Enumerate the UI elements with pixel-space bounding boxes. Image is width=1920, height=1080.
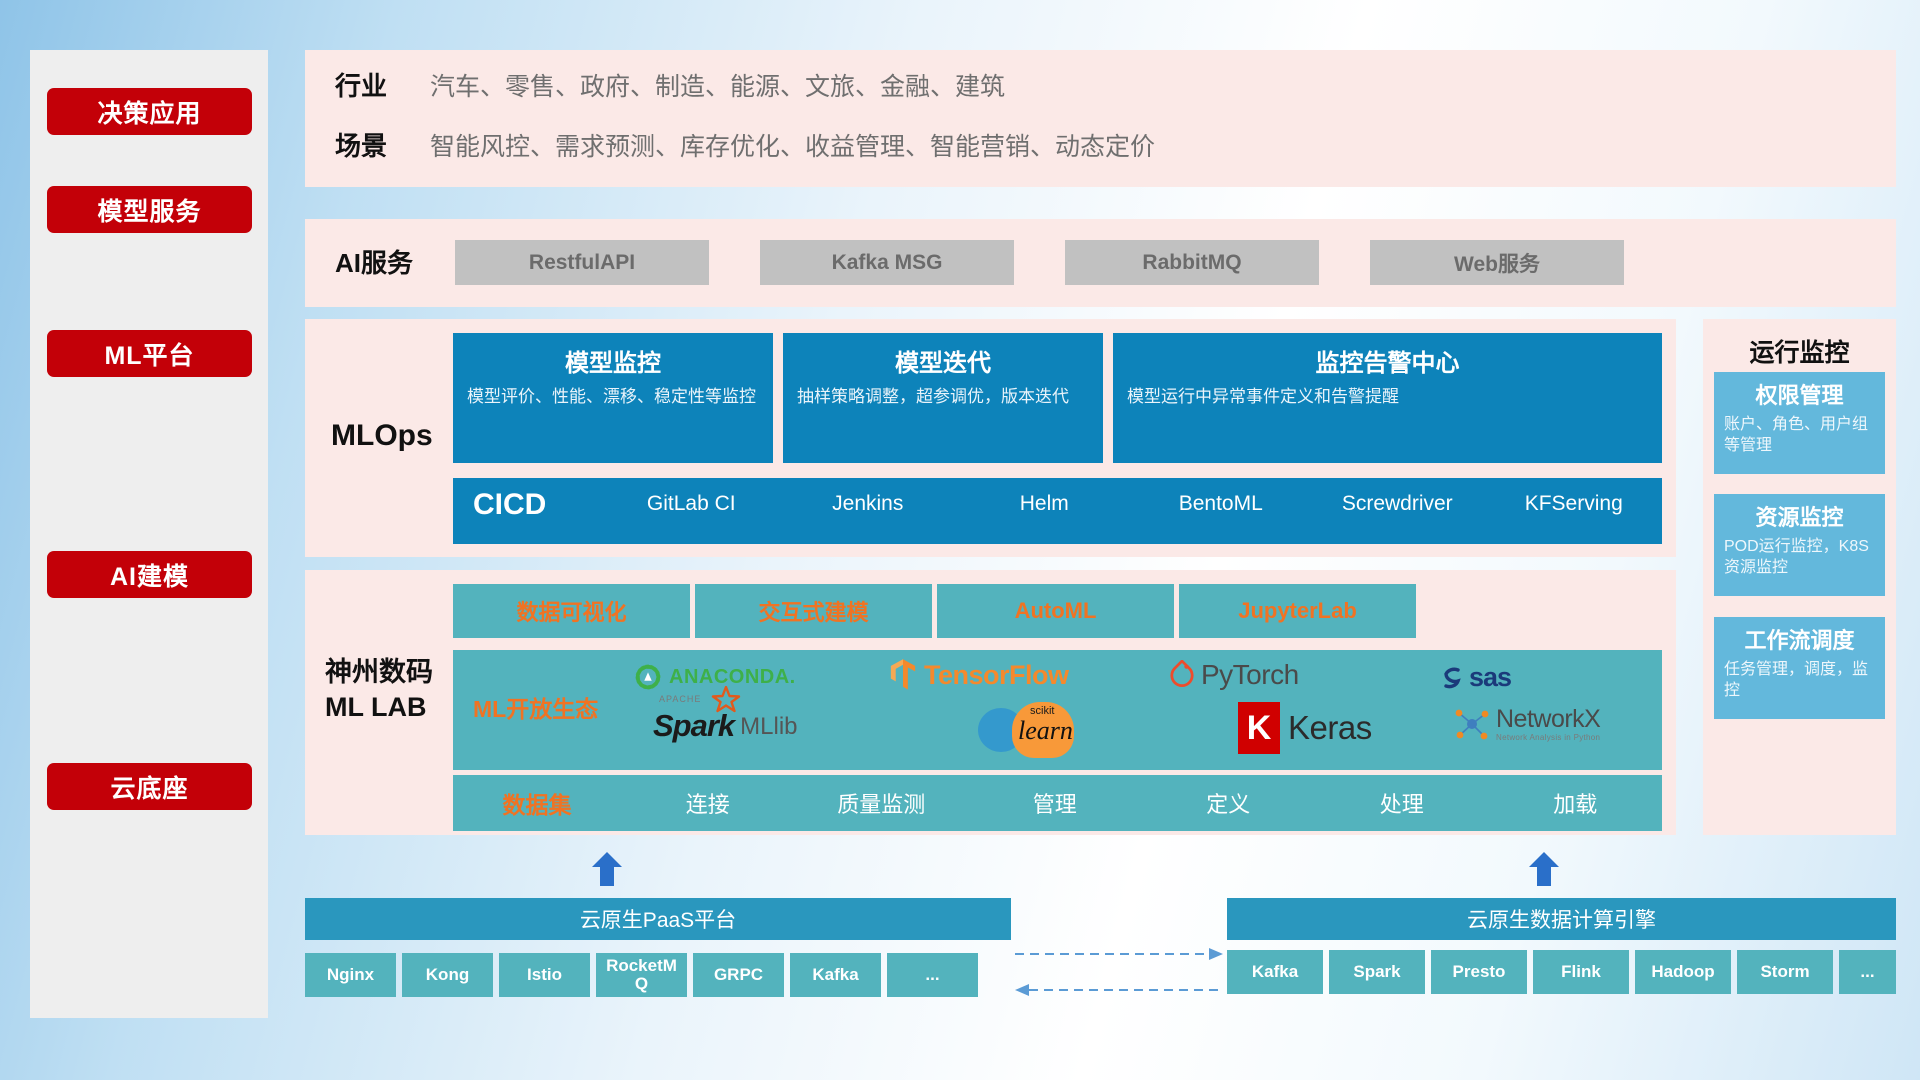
dataset-item-define[interactable]: 定义 — [1142, 787, 1316, 819]
ml-lab-label-line2: ML LAB — [325, 690, 433, 725]
industry-value: 汽车、零售、政府、制造、能源、文旅、金融、建筑 — [430, 67, 1005, 103]
dataset-title: 数据集 — [453, 786, 621, 820]
card-title: 监控告警中心 — [1127, 343, 1648, 378]
ml-lab-label-line1: 神州数码 — [325, 655, 433, 690]
card-title: 工作流调度 — [1724, 623, 1875, 655]
networkx-mark-icon — [1453, 705, 1491, 743]
ml-open-ecosystem-label: ML开放生态 — [473, 690, 598, 724]
card-desc: 抽样策略调整，超参调优，版本迭代 — [797, 386, 1089, 409]
mlops-card-alert-center[interactable]: 监控告警中心 模型运行中异常事件定义和告警提醒 — [1113, 333, 1662, 463]
paas-chip-more[interactable]: ... — [887, 953, 978, 997]
card-desc: 模型评价、性能、漂移、稳定性等监控 — [467, 386, 759, 409]
rail-chip-ml-platform[interactable]: ML平台 — [47, 330, 252, 377]
paas-chip-nginx[interactable]: Nginx — [305, 953, 396, 997]
keras-mark-icon: K — [1238, 702, 1280, 754]
monitor-card-resource[interactable]: 资源监控 POD运行监控，K8S资源监控 — [1714, 494, 1885, 596]
spark-star-icon — [711, 686, 741, 714]
tool-chip-data-visualization[interactable]: 数据可视化 — [453, 584, 690, 638]
cicd-bar: CICD GitLab CI Jenkins Helm BentoML Scre… — [453, 478, 1662, 544]
card-title: 资源监控 — [1724, 500, 1875, 532]
tensorflow-wordmark: TensorFlow — [924, 660, 1069, 691]
data-chip-presto[interactable]: Presto — [1431, 950, 1527, 994]
platform-bar-paas[interactable]: 云原生PaaS平台 — [305, 898, 1011, 940]
pytorch-wordmark: PyTorch — [1201, 659, 1299, 691]
dataset-item-manage[interactable]: 管理 — [968, 787, 1142, 819]
scikit-learn-logo: scikit learn — [978, 702, 1138, 758]
data-chip-hadoop[interactable]: Hadoop — [1635, 950, 1731, 994]
rail-chip-model-service[interactable]: 模型服务 — [47, 186, 252, 233]
data-chip-flink[interactable]: Flink — [1533, 950, 1629, 994]
anaconda-mark-icon — [633, 662, 663, 692]
ml-open-ecosystem-box: ML开放生态 ANACONDA. TensorFlow — [453, 650, 1662, 770]
paas-chip-kafka[interactable]: Kafka — [790, 953, 881, 997]
up-arrow-paas-icon — [591, 852, 623, 886]
left-rail: 决策应用 模型服务 ML平台 AI建模 云底座 — [30, 50, 268, 1018]
networkx-tagline: Network Analysis in Python — [1496, 734, 1600, 742]
pytorch-mark-icon — [1168, 660, 1196, 690]
paas-chip-istio[interactable]: Istio — [499, 953, 590, 997]
up-arrow-data-engine-icon — [1528, 852, 1560, 886]
scikit-learn-wordmark: learn — [1018, 716, 1073, 746]
industry-scenario-band: 行业 汽车、零售、政府、制造、能源、文旅、金融、建筑 场景 智能风控、需求预测、… — [305, 50, 1896, 187]
mllib-wordmark: MLlib — [740, 713, 797, 744]
cicd-item-kfserving[interactable]: KFServing — [1486, 478, 1663, 516]
cicd-item-gitlab-ci[interactable]: GitLab CI — [603, 478, 780, 516]
service-chip-web[interactable]: Web服务 — [1370, 240, 1624, 285]
paas-chip-grpc[interactable]: GRPC — [693, 953, 784, 997]
cicd-item-bentoml[interactable]: BentoML — [1133, 478, 1310, 516]
dataset-item-connect[interactable]: 连接 — [621, 787, 795, 819]
card-desc: 任务管理，调度，监控 — [1724, 659, 1875, 701]
rail-chip-decision[interactable]: 决策应用 — [47, 88, 252, 135]
tool-chip-jupyterlab[interactable]: JupyterLab — [1179, 584, 1416, 638]
scenario-value: 智能风控、需求预测、库存优化、收益管理、智能营销、动态定价 — [430, 127, 1155, 163]
mlops-label: MLOps — [331, 419, 433, 453]
rail-chip-ai-modeling[interactable]: AI建模 — [47, 551, 252, 598]
card-desc: 模型运行中异常事件定义和告警提醒 — [1127, 386, 1648, 409]
spark-mllib-logo: APACHE Spark MLlib — [653, 708, 798, 744]
ml-lab-label: 神州数码 ML LAB — [325, 655, 433, 724]
card-title: 模型监控 — [467, 343, 759, 378]
dataset-item-load[interactable]: 加载 — [1489, 787, 1663, 819]
data-chip-kafka[interactable]: Kafka — [1227, 950, 1323, 994]
sas-logo: sas — [1438, 662, 1511, 693]
tensorflow-logo: TensorFlow — [888, 658, 1069, 692]
bidirectional-connector — [1011, 940, 1227, 1002]
ecosystem-logo-grid: ANACONDA. TensorFlow PyTorch — [623, 650, 1656, 770]
cicd-item-screwdriver[interactable]: Screwdriver — [1309, 478, 1486, 516]
paas-chip-kong[interactable]: Kong — [402, 953, 493, 997]
service-chip-rabbitmq[interactable]: RabbitMQ — [1065, 240, 1319, 285]
mlops-card-model-iteration[interactable]: 模型迭代 抽样策略调整，超参调优，版本迭代 — [783, 333, 1103, 463]
data-chip-more[interactable]: ... — [1839, 950, 1896, 994]
networkx-wordmark: NetworkX — [1496, 707, 1600, 732]
keras-wordmark: Keras — [1288, 709, 1372, 747]
tensorflow-mark-icon — [888, 658, 918, 692]
card-title: 权限管理 — [1724, 378, 1875, 410]
tool-chip-automl[interactable]: AutoML — [937, 584, 1174, 638]
card-title: 模型迭代 — [797, 343, 1089, 378]
ai-service-band: AI服务 RestfulAPI Kafka MSG RabbitMQ Web服务 — [305, 219, 1896, 307]
service-chip-kafka-msg[interactable]: Kafka MSG — [760, 240, 1014, 285]
card-desc: 账户、角色、用户组等管理 — [1724, 414, 1875, 456]
runtime-monitor-column: 运行监控 权限管理 账户、角色、用户组等管理 资源监控 POD运行监控，K8S资… — [1703, 319, 1896, 835]
ai-modeling-band: 神州数码 ML LAB 数据可视化 交互式建模 AutoML JupyterLa… — [305, 570, 1676, 835]
industry-key: 行业 — [305, 66, 430, 103]
cicd-title: CICD — [453, 478, 603, 522]
card-desc: POD运行监控，K8S资源监控 — [1724, 536, 1875, 578]
cicd-item-helm[interactable]: Helm — [956, 478, 1133, 516]
ai-service-label: AI服务 — [335, 243, 413, 280]
sas-wordmark: sas — [1469, 662, 1511, 693]
monitor-card-permission[interactable]: 权限管理 账户、角色、用户组等管理 — [1714, 372, 1885, 474]
rail-chip-cloud-base[interactable]: 云底座 — [47, 763, 252, 810]
scenario-key: 场景 — [305, 126, 430, 163]
pytorch-logo: PyTorch — [1168, 659, 1299, 691]
data-chip-spark[interactable]: Spark — [1329, 950, 1425, 994]
keras-logo: K Keras — [1238, 702, 1372, 754]
monitor-card-workflow[interactable]: 工作流调度 任务管理，调度，监控 — [1714, 617, 1885, 719]
mlops-band: MLOps 模型监控 模型评价、性能、漂移、稳定性等监控 模型迭代 抽样策略调整… — [305, 319, 1676, 557]
platform-bar-data-engine[interactable]: 云原生数据计算引擎 — [1227, 898, 1896, 940]
mlops-card-model-monitoring[interactable]: 模型监控 模型评价、性能、漂移、稳定性等监控 — [453, 333, 773, 463]
tool-chip-interactive-modeling[interactable]: 交互式建模 — [695, 584, 932, 638]
dataset-item-quality[interactable]: 质量监测 — [795, 787, 969, 819]
service-chip-restfulapi[interactable]: RestfulAPI — [455, 240, 709, 285]
runtime-monitor-title: 运行监控 — [1703, 319, 1896, 369]
keras-mark-letter: K — [1247, 709, 1272, 748]
dataset-item-process[interactable]: 处理 — [1315, 787, 1489, 819]
data-chip-storm[interactable]: Storm — [1737, 950, 1833, 994]
sas-mark-icon — [1438, 664, 1466, 692]
dataset-bar: 数据集 连接 质量监测 管理 定义 处理 加载 — [453, 775, 1662, 831]
apache-wordmark: APACHE — [659, 694, 701, 704]
cicd-item-jenkins[interactable]: Jenkins — [780, 478, 957, 516]
paas-chip-rocketmq[interactable]: RocketMQ — [596, 953, 687, 997]
networkx-logo: NetworkX Network Analysis in Python — [1453, 705, 1600, 743]
